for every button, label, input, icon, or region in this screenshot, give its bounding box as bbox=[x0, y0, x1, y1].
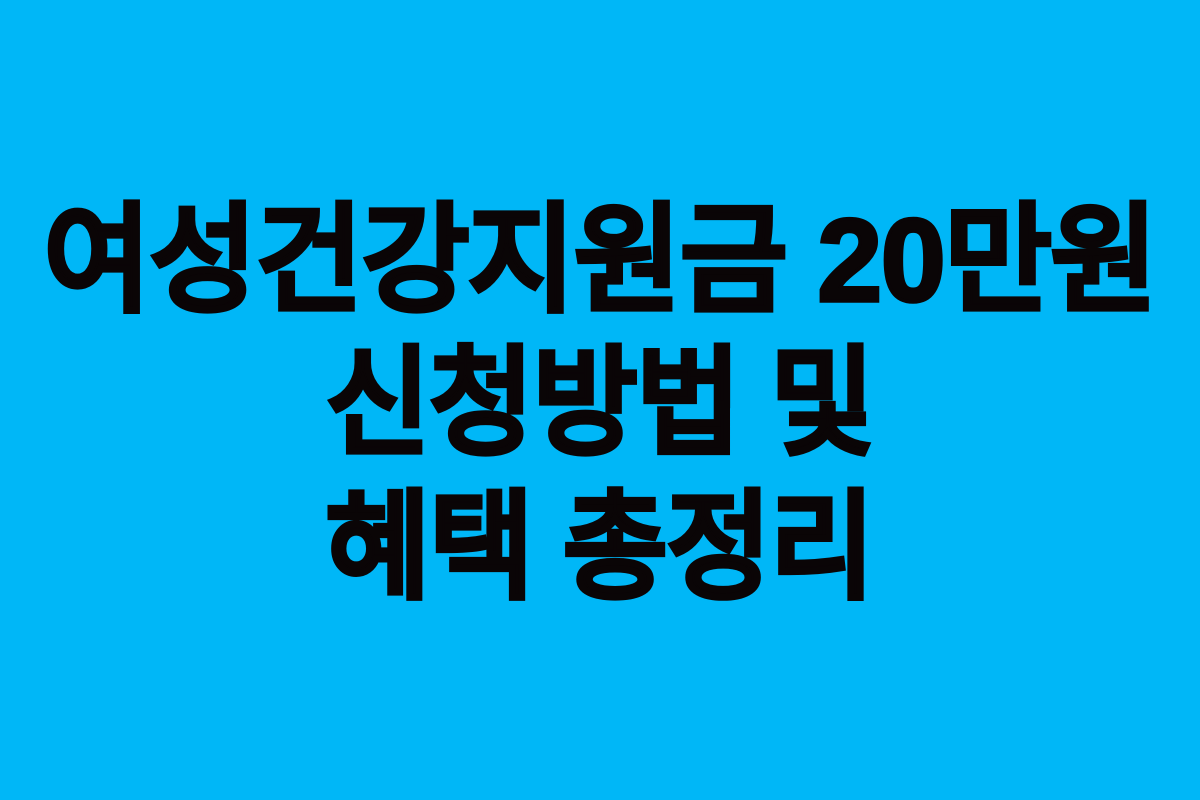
headline-line-2: 신청방법 및 bbox=[326, 345, 874, 463]
thumbnail-banner: 여성건강지원금 20만원 신청방법 및 혜택 총정리 bbox=[0, 0, 1200, 800]
headline-line-3: 혜택 총정리 bbox=[326, 489, 874, 607]
headline-block: 여성건강지원금 20만원 신청방법 및 혜택 총정리 bbox=[0, 202, 1200, 607]
headline-line-1: 여성건강지원금 20만원 bbox=[44, 202, 1157, 320]
